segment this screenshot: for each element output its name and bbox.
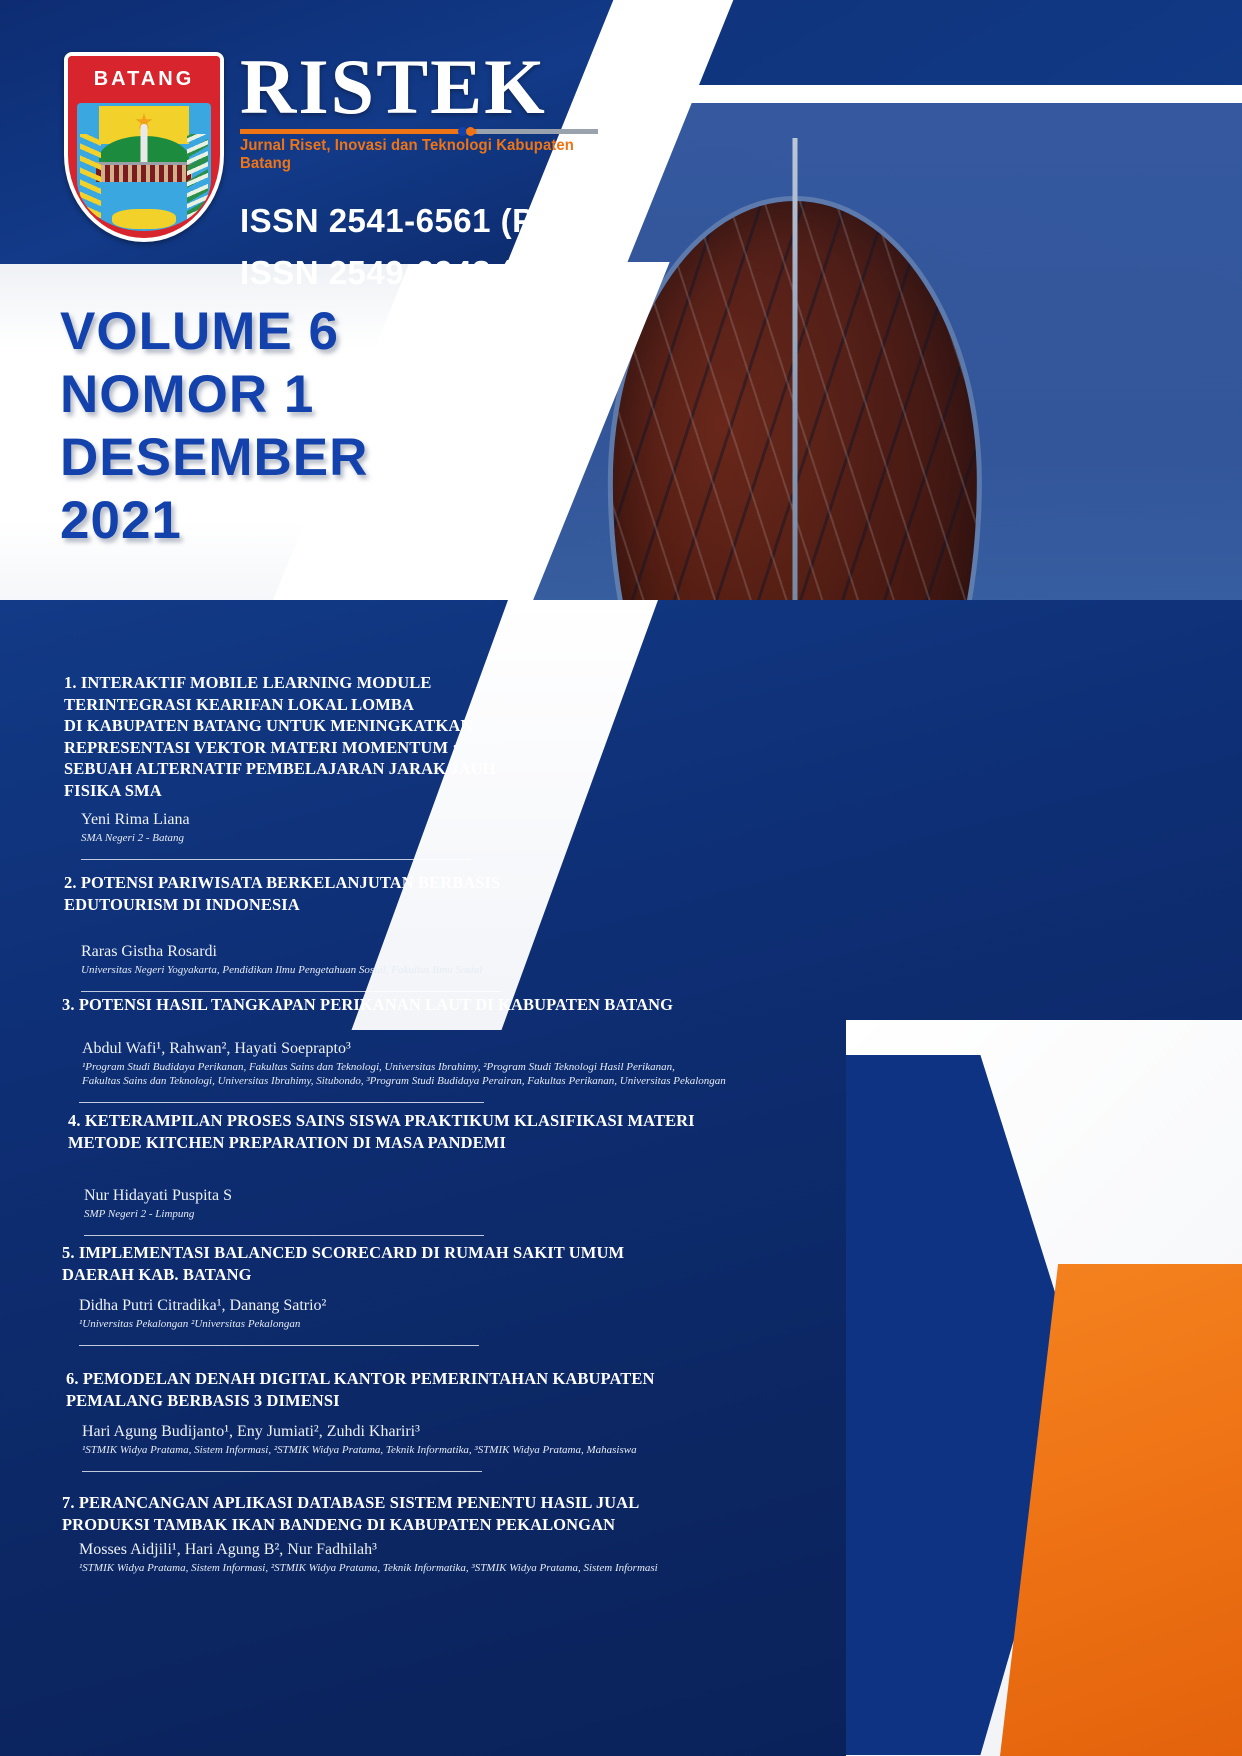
- toc-entry[interactable]: 7. PERANCANGAN APLIKASI DATABASE SISTEM …: [62, 1492, 782, 1575]
- article-authors: Hari Agung Budijanto¹, Eny Jumiati², Zuh…: [82, 1421, 782, 1442]
- article-title: 2. POTENSI PARIWISATA BERKELANJUTAN BERB…: [64, 872, 564, 915]
- article-affiliation: Universitas Negeri Yogyakarta, Pendidika…: [81, 963, 564, 977]
- article-number: 5.: [62, 1243, 75, 1262]
- article-affiliation: ¹Program Studi Budidaya Perikanan, Fakul…: [82, 1060, 862, 1088]
- article-authors: Raras Gistha Rosardi: [81, 941, 564, 962]
- emblem-name-text: BATANG: [94, 68, 195, 91]
- article-title: 5. IMPLEMENTASI BALANCED SCORECARD DI RU…: [62, 1242, 702, 1285]
- article-authors: Abdul Wafi¹, Rahwan², Hayati Soeprapto³: [82, 1038, 862, 1059]
- article-number: 1.: [64, 673, 77, 692]
- month-label: DESEMBER: [60, 426, 480, 489]
- issn-electronic: ISSN 2549-6948 (E): [240, 247, 610, 299]
- article-number: 7.: [62, 1493, 75, 1512]
- entry-divider: [81, 859, 471, 860]
- article-title-text: KETERAMPILAN PROSES SAINS SISWA PRAKTIKU…: [68, 1111, 695, 1152]
- article-title-text: PEMODELAN DENAH DIGITAL KANTOR PEMERINTA…: [66, 1369, 655, 1410]
- article-affiliation: ¹Universitas Pekalongan ²Universitas Pek…: [79, 1317, 702, 1331]
- article-title-text: POTENSI PARIWISATA BERKELANJUTAN BERBASI…: [64, 873, 500, 914]
- article-authors: Nur Hidayati Puspita S: [84, 1185, 764, 1206]
- emblem-cotton-branch-right: [187, 134, 208, 221]
- article-number: 3.: [62, 995, 75, 1014]
- article-title: 6. PEMODELAN DENAH DIGITAL KANTOR PEMERI…: [66, 1368, 782, 1411]
- article-title: 4. KETERAMPILAN PROSES SAINS SISWA PRAKT…: [68, 1110, 764, 1153]
- logo-dot-icon: [466, 127, 475, 136]
- entry-divider: [81, 991, 501, 992]
- toc-entry[interactable]: 3. POTENSI HASIL TANGKAPAN PERIKANAN LAU…: [62, 994, 862, 1103]
- article-title: 1. INTERAKTIF MOBILE LEARNING MODULE TER…: [64, 672, 534, 801]
- article-authors: Yeni Rima Liana: [81, 809, 534, 830]
- batang-regency-emblem: BATANG ★: [64, 52, 224, 242]
- article-title-text: IMPLEMENTASI BALANCED SCORECARD DI RUMAH…: [62, 1243, 624, 1284]
- shield-shape: BATANG ★: [64, 52, 224, 242]
- entry-divider: [79, 1345, 479, 1346]
- article-authors: Mosses Aidjili¹, Hari Agung B², Nur Fadh…: [79, 1539, 782, 1560]
- emblem-name-band: BATANG: [68, 56, 220, 103]
- issue-info: VOLUME 6 NOMOR 1 DESEMBER 2021: [60, 300, 480, 552]
- issn-print: ISSN 2541-6561 (P): [240, 195, 610, 247]
- entry-divider: [82, 1471, 482, 1472]
- number-label: NOMOR 1: [60, 363, 480, 426]
- article-number: 6.: [66, 1369, 79, 1388]
- article-affiliation: ¹STMIK Widya Pratama, Sistem Informasi, …: [79, 1561, 782, 1575]
- entry-divider: [84, 1235, 484, 1236]
- article-title-text: INTERAKTIF MOBILE LEARNING MODULE TERINT…: [64, 673, 496, 800]
- article-affiliation: ¹STMIK Widya Pratama, Sistem Informasi, …: [82, 1443, 782, 1457]
- logo-rule: [240, 129, 598, 134]
- article-title: 7. PERANCANGAN APLIKASI DATABASE SISTEM …: [62, 1492, 782, 1535]
- article-title-text: POTENSI HASIL TANGKAPAN PERIKANAN LAUT D…: [79, 995, 673, 1014]
- emblem-inner-scene: ★: [77, 103, 211, 230]
- article-affiliation: SMP Negeri 2 - Limpung: [84, 1207, 764, 1221]
- toc-entry[interactable]: 4. KETERAMPILAN PROSES SAINS SISWA PRAKT…: [64, 1110, 764, 1236]
- toc-entry[interactable]: 1. INTERAKTIF MOBILE LEARNING MODULE TER…: [64, 672, 534, 860]
- volume-label: VOLUME 6: [60, 300, 480, 363]
- article-number: 4.: [68, 1111, 81, 1130]
- toc-entry[interactable]: 6. PEMODELAN DENAH DIGITAL KANTOR PEMERI…: [62, 1368, 782, 1472]
- article-number: 2.: [64, 873, 77, 892]
- toc-entry[interactable]: 5. IMPLEMENTASI BALANCED SCORECARD DI RU…: [62, 1242, 702, 1346]
- journal-subtitle: Jurnal Riset, Inovasi dan Teknologi Kabu…: [240, 137, 595, 173]
- journal-cover: BATANG ★ RISTEK Jurnal Riset, Inovasi da…: [0, 0, 1242, 1756]
- year-label: 2021: [60, 489, 480, 552]
- emblem-rice-stalk-left: [80, 134, 101, 221]
- article-authors: Didha Putri Citradika¹, Danang Satrio²: [79, 1295, 702, 1316]
- entry-divider: [79, 1102, 484, 1103]
- article-title-text: PERANCANGAN APLIKASI DATABASE SISTEM PEN…: [62, 1493, 639, 1534]
- journal-logo: RISTEK Jurnal Riset, Inovasi dan Teknolo…: [240, 48, 610, 299]
- toc-entry[interactable]: 2. POTENSI PARIWISATA BERKELANJUTAN BERB…: [64, 872, 564, 992]
- journal-title-word: RISTEK: [240, 48, 610, 126]
- article-title: 3. POTENSI HASIL TANGKAPAN PERIKANAN LAU…: [62, 994, 862, 1016]
- emblem-ribbon: [112, 209, 176, 229]
- article-affiliation: SMA Negeri 2 - Batang: [81, 831, 534, 845]
